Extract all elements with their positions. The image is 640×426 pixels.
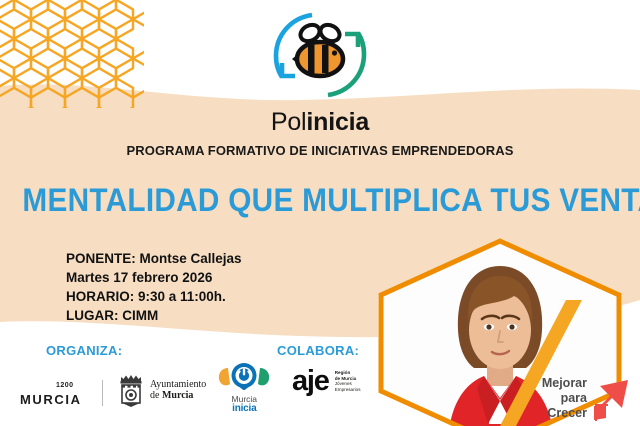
- aje-sub-line4: Empresarios: [335, 387, 361, 392]
- poster-canvas: Polinicia PROGRAMA FORMATIVO DE INICIATI…: [0, 0, 640, 426]
- murcia-coat-of-arms-icon: [117, 372, 145, 408]
- honeycomb-pattern: [0, 0, 144, 108]
- organiza-logo-row: MURCIA 1200 Ayuntamien: [20, 362, 272, 408]
- tagline-text: Mejorar para Crecer: [525, 376, 587, 421]
- brand-name: Polinicia: [0, 110, 640, 135]
- program-subtitle: PROGRAMA FORMATIVO DE INICIATIVAS EMPREN…: [0, 143, 640, 158]
- page-title: MENTALIDAD QUE MULTIPLICA TUS VENTAS: [22, 182, 617, 219]
- ayuntamiento-line2: de Murcia: [150, 390, 206, 402]
- tagline-line1: Mejorar: [525, 376, 587, 391]
- detail-date: Martes 17 febrero 2026: [66, 268, 242, 287]
- murcia-inicia-logo: Murcia inicia: [216, 362, 272, 408]
- ayuntamiento-de-murcia-logo: Ayuntamiento de Murcia: [117, 372, 206, 408]
- event-details: PONENTE: Montse Callejas Martes 17 febre…: [66, 249, 242, 325]
- bee-recycle-icon: [268, 6, 372, 104]
- ayuntamiento-line1: Ayuntamiento: [150, 379, 206, 391]
- brand-name-bold: inicia: [306, 108, 369, 136]
- arrow-up-right-icon: [584, 376, 632, 422]
- colabora-label: COLABORA:: [277, 343, 359, 358]
- ayuntamiento-line2-light: de: [150, 390, 162, 401]
- detail-speaker: PONENTE: Montse Callejas: [66, 249, 242, 268]
- detail-time: HORARIO: 9:30 a 11:00h.: [66, 287, 242, 306]
- murcia-1200-word: MURCIA: [20, 392, 82, 407]
- murcia-1200-logo: MURCIA 1200: [20, 382, 90, 408]
- detail-venue: LUGAR: CIMM: [66, 306, 242, 325]
- aje-logo-word: aje: [292, 368, 329, 394]
- colabora-logo-row: aje Región de Murcia Jóvenes Empresarios: [292, 368, 361, 394]
- murcia-inicia-line2: inicia: [216, 404, 272, 414]
- logo-divider: [102, 380, 103, 406]
- murcia-inicia-power-icon: [216, 362, 272, 390]
- brand-name-light: Pol: [271, 108, 307, 136]
- ayuntamiento-text: Ayuntamiento de Murcia: [150, 379, 206, 402]
- ayuntamiento-line2-bold: Murcia: [162, 390, 193, 401]
- aje-logo-subtext: Región de Murcia Jóvenes Empresarios: [335, 370, 361, 394]
- tagline-line3: Crecer: [525, 406, 587, 421]
- tagline-line2: para: [525, 391, 587, 406]
- organiza-label: ORGANIZA:: [46, 343, 122, 358]
- murcia-1200-number: 1200: [56, 382, 74, 389]
